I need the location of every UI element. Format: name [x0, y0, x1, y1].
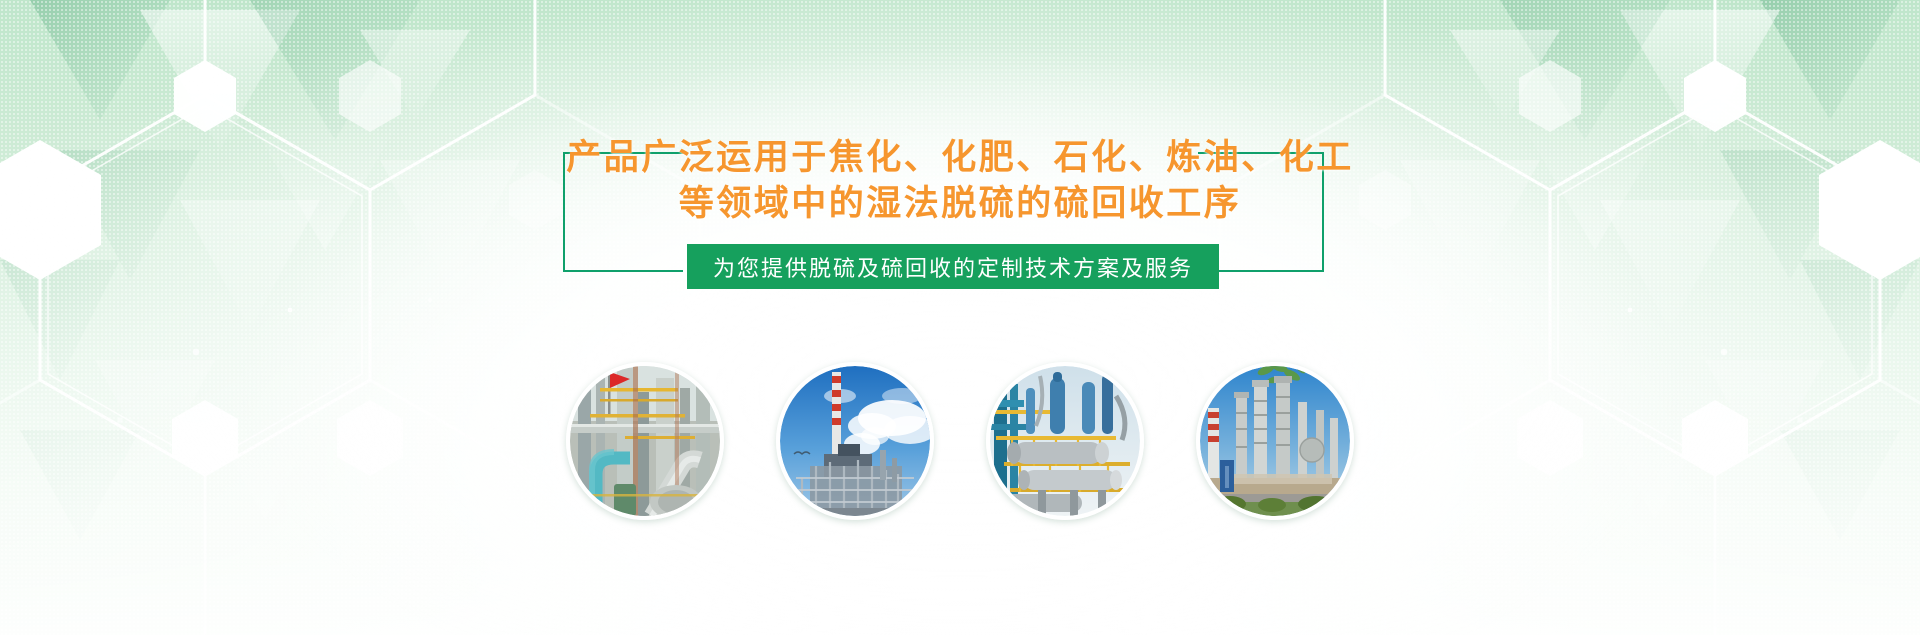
headline-line-1: 产品广泛运用于焦化、化肥、石化、炼油、化工 — [0, 135, 1920, 181]
photo-desulfurization-plant-piping[interactable] — [566, 362, 724, 520]
photo-row — [0, 362, 1920, 520]
subtitle-text: 为您提供脱硫及硫回收的定制技术方案及服务 — [713, 251, 1193, 283]
photo-refinery-chimney[interactable] — [776, 362, 934, 520]
headline-line-2: 等领域中的湿法脱硫的硫回收工序 — [0, 181, 1920, 227]
banner-headline: 产品广泛运用于焦化、化肥、石化、炼油、化工 等领域中的湿法脱硫的硫回收工序 — [0, 135, 1920, 227]
promo-banner: 产品广泛运用于焦化、化肥、石化、炼油、化工 等领域中的湿法脱硫的硫回收工序 为您… — [0, 0, 1920, 635]
subtitle-bar: 为您提供脱硫及硫回收的定制技术方案及服务 — [687, 244, 1219, 289]
photo-petrochemical-towers[interactable] — [1196, 362, 1354, 520]
photo-sulfur-recovery-vessels[interactable] — [986, 362, 1144, 520]
